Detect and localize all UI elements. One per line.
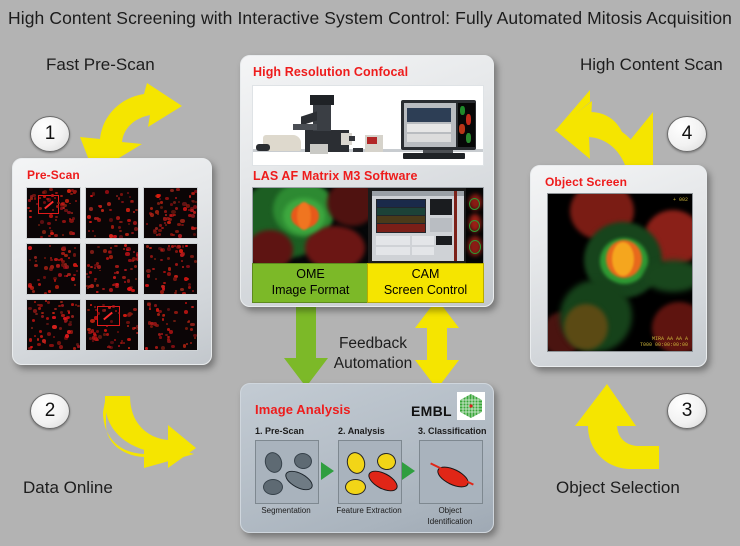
step-number-3-value: 3	[682, 400, 693, 422]
label-object-selection: Object Selection	[556, 478, 680, 498]
nucleus-dot	[133, 308, 137, 312]
nucleus-dot	[185, 327, 189, 330]
nucleus-dot	[168, 267, 172, 270]
nucleus-dot	[165, 214, 167, 216]
nucleus-dot	[158, 310, 162, 313]
diagram-canvas: High Content Screening with Interactive …	[0, 0, 740, 546]
nucleus-dot	[66, 275, 68, 277]
nucleus-dot	[110, 235, 114, 239]
nucleus-dot	[37, 338, 40, 340]
nucleus-dot	[149, 212, 152, 215]
nucleus-dot	[28, 285, 32, 288]
step-number-1: 1	[30, 116, 70, 152]
nucleus-dot	[145, 347, 147, 349]
prescan-tile-grid[interactable]	[26, 187, 198, 351]
nucleus-dot	[59, 327, 62, 330]
nucleus-dot	[132, 260, 134, 262]
nucleus-dot	[178, 234, 182, 238]
nucleus-dot	[49, 267, 53, 271]
nucleus-dot	[88, 285, 92, 288]
nucleus-dot	[53, 336, 56, 338]
nucleus-dot	[27, 207, 30, 209]
feature-object-yellow	[376, 451, 398, 471]
nucleus-dot	[149, 308, 151, 310]
nucleus-dot	[164, 210, 167, 213]
ia-feature-extraction-box[interactable]	[338, 440, 402, 504]
nucleus-dot	[49, 245, 51, 247]
nucleus-dot	[89, 337, 92, 340]
nucleus-dot	[109, 209, 112, 211]
nucleus-dot	[44, 257, 47, 259]
nucleus-dot	[89, 221, 92, 223]
nucleus-dot	[192, 290, 194, 292]
nucleus-dot	[63, 204, 67, 208]
nucleus-dot	[105, 190, 109, 194]
nucleus-dot	[128, 259, 131, 262]
step-number-4-value: 4	[682, 123, 693, 145]
nucleus-dot	[61, 314, 64, 317]
nucleus-dot	[60, 203, 64, 207]
nucleus-dot	[189, 195, 192, 197]
nucleus-dot	[160, 290, 164, 294]
las-af-software-screenshot	[368, 188, 483, 264]
nucleus-dot	[44, 266, 48, 270]
nucleus-dot	[192, 192, 195, 195]
nucleus-dot	[167, 221, 171, 224]
object-screen-image[interactable]: + 002 MIRA AA AA A T000 00:00:00:00	[547, 193, 693, 352]
nucleus-dot	[124, 269, 127, 272]
segmentation-object	[293, 452, 314, 471]
nucleus-dot	[170, 233, 173, 236]
nucleus-dot	[87, 276, 89, 278]
mitosis-fluorescence-image	[253, 188, 368, 264]
prescan-tile[interactable]	[26, 187, 81, 239]
nucleus-dot	[167, 338, 170, 340]
nucleus-dot	[63, 317, 67, 320]
nucleus-dot	[146, 245, 149, 248]
nucleus-dot	[127, 325, 130, 327]
nucleus-dot	[147, 302, 150, 305]
nucleus-dot	[148, 321, 152, 324]
nucleus-dot	[119, 235, 123, 239]
nucleus-dot	[169, 330, 173, 333]
nucleus-dot	[29, 210, 32, 213]
nucleus-dot	[191, 226, 194, 229]
cam-bar-line-1: CAM	[412, 267, 440, 283]
nucleus-dot	[61, 304, 65, 307]
label-high-content-scan: High Content Scan	[580, 55, 723, 75]
nucleus-dot	[48, 235, 51, 238]
nucleus-dot	[96, 217, 99, 220]
ia-flow-arrow-1-icon	[321, 462, 334, 480]
nucleus-dot	[116, 216, 120, 220]
nucleus-dot	[191, 306, 194, 309]
nucleus-dot	[156, 308, 159, 311]
nucleus-dot	[114, 245, 116, 247]
nucleus-dot	[180, 253, 184, 257]
ia-step-1-title: Pre-Scan	[265, 426, 304, 436]
nucleus-dot	[125, 252, 129, 256]
nucleus-dot	[135, 278, 137, 280]
nucleus-dot	[58, 259, 60, 261]
nucleus-dot	[73, 347, 76, 350]
ia-step-3-number: 3.	[418, 426, 426, 436]
nucleus-dot	[165, 334, 167, 336]
nucleus-dot	[188, 283, 191, 286]
nucleus-dot	[73, 190, 77, 193]
nucleus-dot	[67, 330, 71, 334]
nucleus-dot	[61, 252, 65, 255]
nucleus-dot	[42, 191, 46, 194]
step-number-1-value: 1	[45, 123, 56, 145]
nucleus-dot	[106, 333, 109, 336]
object-screen-timestamp: MIRA AA AA A T000 00:00:00:00	[640, 336, 688, 349]
nucleus-dot	[49, 227, 51, 229]
step-number-2-value: 2	[45, 400, 56, 422]
nucleus-dot	[54, 308, 57, 311]
identification-marker	[430, 462, 442, 469]
nucleus-dot	[193, 211, 196, 214]
prescan-panel[interactable]: Pre-Scan	[12, 158, 212, 365]
nucleus-dot	[39, 304, 43, 307]
nucleus-dot	[127, 287, 131, 291]
nucleus-dot	[70, 193, 73, 195]
nucleus-dot	[186, 265, 190, 268]
nucleus-dot	[29, 216, 32, 218]
nucleus-dot	[37, 343, 41, 346]
prescan-roi-marker[interactable]	[97, 306, 120, 326]
nucleus-dot	[173, 201, 177, 204]
nucleus-dot	[94, 280, 96, 282]
nucleus-dot	[93, 332, 96, 335]
nucleus-dot	[119, 221, 121, 223]
prescan-tile[interactable]	[143, 243, 198, 295]
nucleus-dot	[166, 323, 168, 325]
nucleus-dot	[87, 328, 91, 332]
nucleus-dot	[88, 230, 90, 232]
nucleus-dot	[75, 200, 77, 202]
prescan-tile[interactable]	[85, 243, 140, 295]
image-analysis-panel[interactable]: Image Analysis EMBL 1. Pre-Scan	[240, 383, 494, 533]
segmentation-object-selected	[282, 467, 316, 494]
prescan-tile[interactable]	[85, 187, 140, 239]
nucleus-dot	[67, 310, 70, 312]
ia-object-identification-box[interactable]	[419, 440, 483, 504]
nucleus-dot	[52, 325, 56, 329]
nucleus-dot	[68, 311, 70, 313]
nucleus-dot	[161, 285, 165, 288]
nucleus-dot	[117, 217, 120, 219]
nucleus-dot	[184, 310, 188, 314]
nucleus-dot	[116, 271, 119, 274]
nucleus-dot	[170, 189, 174, 193]
nucleus-dot	[131, 313, 134, 315]
nucleus-dot	[55, 216, 58, 219]
ia-caption-object-identification: Object Identification	[413, 506, 487, 528]
nucleus-dot	[34, 301, 36, 303]
nucleus-dot	[58, 273, 62, 277]
nucleus-dot	[49, 188, 52, 191]
nucleus-dot	[120, 342, 123, 345]
nucleus-dot	[54, 258, 58, 261]
nucleus-dot	[163, 217, 167, 221]
nucleus-dot	[183, 344, 187, 347]
nucleus-dot	[46, 323, 48, 325]
nucleus-dot	[149, 306, 151, 308]
nucleus-dot	[159, 336, 162, 338]
nucleus-dot	[158, 194, 161, 197]
nucleus-dot	[91, 329, 95, 332]
nucleus-dot	[127, 313, 131, 317]
nucleus-dot	[101, 209, 104, 212]
nucleus-dot	[56, 264, 60, 268]
nucleus-dot	[176, 245, 180, 249]
nucleus-dot	[155, 278, 157, 280]
nucleus-dot	[153, 229, 156, 232]
nucleus-dot	[118, 197, 121, 199]
nucleus-dot	[181, 260, 183, 262]
nucleus-dot	[135, 209, 137, 211]
nucleus-dot	[72, 217, 75, 220]
prescan-tile[interactable]	[26, 299, 81, 351]
nucleus-dot	[110, 247, 112, 249]
nucleus-dot	[193, 233, 196, 236]
nucleus-dot	[69, 231, 73, 235]
feature-object-yellow	[345, 479, 366, 495]
step-number-3: 3	[667, 393, 707, 429]
nucleus-dot	[126, 249, 128, 251]
nucleus-dot	[64, 275, 66, 277]
nucleus-dot	[150, 325, 153, 328]
nucleus-dot	[37, 304, 40, 306]
nucleus-dot	[52, 312, 54, 314]
nucleus-dot	[109, 218, 113, 222]
nucleus-dot	[96, 330, 100, 333]
nucleus-dot	[193, 334, 197, 337]
object-screen-panel-heading: Object Screen	[545, 175, 627, 189]
nucleus-dot	[71, 189, 74, 192]
nucleus-dot	[56, 264, 60, 267]
nucleus-dot	[40, 335, 43, 338]
nucleus-dot	[174, 292, 177, 294]
nucleus-dot	[54, 279, 57, 281]
nucleus-dot	[150, 255, 153, 258]
nucleus-dot	[160, 206, 163, 209]
nucleus-dot	[60, 311, 63, 314]
prescan-tile[interactable]	[143, 299, 198, 351]
nucleus-dot	[50, 259, 52, 261]
prescan-roi-marker[interactable]	[38, 195, 59, 214]
ia-caption-segmentation: Segmentation	[249, 506, 323, 517]
nucleus-dot	[109, 346, 112, 348]
nucleus-dot	[64, 320, 67, 323]
nucleus-dot	[119, 230, 122, 233]
object-screen-corner-marker: + 002	[673, 197, 688, 203]
nucleus-dot	[49, 214, 53, 218]
nucleus-dot	[117, 331, 119, 333]
nucleus-dot	[94, 264, 97, 267]
nucleus-dot	[175, 263, 178, 266]
nucleus-dot	[61, 247, 65, 251]
nucleus-dot	[147, 303, 151, 306]
nucleus-dot	[34, 256, 37, 259]
nucleus-dot	[65, 265, 69, 269]
nucleus-dot	[115, 285, 119, 289]
nucleus-dot	[116, 195, 118, 197]
page-title: High Content Screening with Interactive …	[0, 8, 740, 29]
nucleus-dot	[37, 279, 39, 281]
nucleus-dot	[179, 249, 183, 253]
nucleus-dot	[155, 227, 159, 230]
nucleus-dot	[66, 316, 70, 320]
nucleus-dot	[188, 214, 192, 217]
nucleus-dot	[67, 189, 71, 193]
nucleus-dot	[161, 249, 163, 251]
object-screen-panel[interactable]: Object Screen + 002 MIRA AA AA A T000 00…	[530, 165, 707, 367]
nucleus-dot	[164, 222, 167, 224]
nucleus-dot	[171, 345, 175, 348]
nucleus-dot	[180, 288, 184, 292]
feedback-line-2: Automation	[330, 354, 416, 374]
nucleus-dot	[190, 323, 194, 327]
nucleus-dot	[73, 253, 77, 256]
nucleus-dot	[103, 333, 106, 336]
nucleus-dot	[182, 202, 186, 206]
nucleus-dot	[69, 219, 73, 223]
nucleus-dot	[157, 213, 159, 215]
nucleus-dot	[102, 288, 105, 291]
nucleus-dot	[50, 257, 52, 259]
nucleus-dot	[62, 220, 66, 224]
nucleus-dot	[50, 230, 53, 233]
nucleus-dot	[156, 234, 158, 236]
prescan-tile[interactable]	[143, 187, 198, 239]
cam-screen-control-bar[interactable]: CAM Screen Control	[367, 263, 484, 303]
nucleus-dot	[60, 258, 63, 261]
nucleus-dot	[153, 322, 157, 326]
nucleus-dot	[182, 266, 184, 268]
nucleus-dot	[190, 342, 193, 344]
nucleus-dot	[155, 195, 157, 197]
nucleus-dot	[64, 318, 68, 322]
nucleus-dot	[124, 281, 126, 283]
nucleus-dot	[145, 284, 148, 287]
nucleus-dot	[183, 207, 187, 211]
nucleus-dot	[182, 245, 185, 248]
nucleus-dot	[171, 210, 175, 214]
nucleus-dot	[71, 277, 75, 281]
nucleus-dot	[171, 245, 174, 248]
nucleus-dot	[52, 316, 55, 319]
nucleus-dot	[159, 198, 161, 200]
nucleus-dot	[128, 312, 132, 316]
nucleus-dot	[65, 334, 69, 338]
nucleus-dot	[126, 321, 130, 325]
nucleus-dot	[194, 228, 196, 230]
nucleus-dot	[61, 263, 65, 267]
nucleus-dot	[176, 188, 179, 191]
nucleus-dot	[28, 283, 32, 287]
nucleus-dot	[94, 337, 98, 341]
nucleus-dot	[74, 247, 77, 249]
nucleus-dot	[150, 322, 154, 326]
nucleus-dot	[116, 245, 118, 247]
nucleus-dot	[29, 259, 32, 261]
nucleus-dot	[92, 340, 94, 342]
nucleus-dot	[47, 332, 51, 336]
nucleus-dot	[104, 329, 107, 332]
nucleus-dot	[194, 337, 196, 339]
nucleus-dot	[167, 336, 170, 339]
ome-image-format-bar[interactable]: OME Image Format	[252, 263, 369, 303]
nucleus-dot	[44, 342, 46, 344]
nucleus-dot	[177, 245, 181, 249]
nucleus-dot	[186, 343, 189, 345]
prescan-tile[interactable]	[26, 243, 81, 295]
nucleus-dot	[136, 252, 139, 255]
ia-step-3-header: 3. Classification	[418, 426, 487, 436]
nucleus-dot	[133, 211, 135, 213]
nucleus-dot	[97, 265, 101, 268]
nucleus-dot	[167, 247, 171, 250]
segmentation-object	[262, 450, 285, 475]
nucleus-dot	[57, 341, 61, 345]
nucleus-dot	[48, 290, 51, 292]
nucleus-dot	[193, 205, 197, 209]
nucleus-dot	[111, 225, 115, 228]
nucleus-dot	[128, 347, 130, 349]
nucleus-dot	[187, 321, 190, 323]
nucleus-dot	[167, 308, 170, 311]
nucleus-dot	[158, 229, 162, 232]
nucleus-dot	[60, 301, 62, 303]
nucleus-dot	[121, 201, 124, 204]
nucleus-dot	[173, 214, 175, 216]
feature-object-yellow	[344, 450, 368, 476]
step-number-2: 2	[30, 393, 70, 429]
nucleus-dot	[70, 232, 74, 236]
nucleus-dot	[55, 192, 58, 195]
nucleus-dot	[136, 332, 139, 334]
nucleus-dot	[90, 304, 92, 306]
confocal-panel[interactable]: High Resolution Confocal	[240, 55, 494, 307]
nucleus-dot	[133, 251, 135, 253]
nucleus-dot	[77, 305, 79, 307]
nucleus-dot	[175, 207, 178, 210]
nucleus-dot	[131, 200, 133, 202]
nucleus-dot	[134, 227, 138, 231]
nucleus-dot	[115, 283, 119, 286]
nucleus-dot	[154, 258, 156, 260]
nucleus-dot	[68, 250, 72, 253]
nucleus-dot	[49, 344, 53, 348]
ia-segmentation-box[interactable]	[255, 440, 319, 504]
cam-bar-line-2: Screen Control	[384, 283, 467, 299]
nucleus-dot	[63, 266, 67, 269]
ia-step-2-header: 2. Analysis	[338, 426, 385, 436]
segmentation-object	[263, 479, 283, 495]
nucleus-dot	[121, 340, 123, 342]
nucleus-dot	[71, 303, 75, 306]
nucleus-dot	[61, 202, 65, 205]
nucleus-dot	[96, 284, 100, 287]
nucleus-dot	[76, 343, 79, 346]
nucleus-dot	[129, 286, 133, 290]
nucleus-dot	[191, 200, 194, 203]
nucleus-dot	[40, 220, 44, 224]
nucleus-dot	[58, 305, 61, 307]
prescan-tile[interactable]	[85, 299, 140, 351]
